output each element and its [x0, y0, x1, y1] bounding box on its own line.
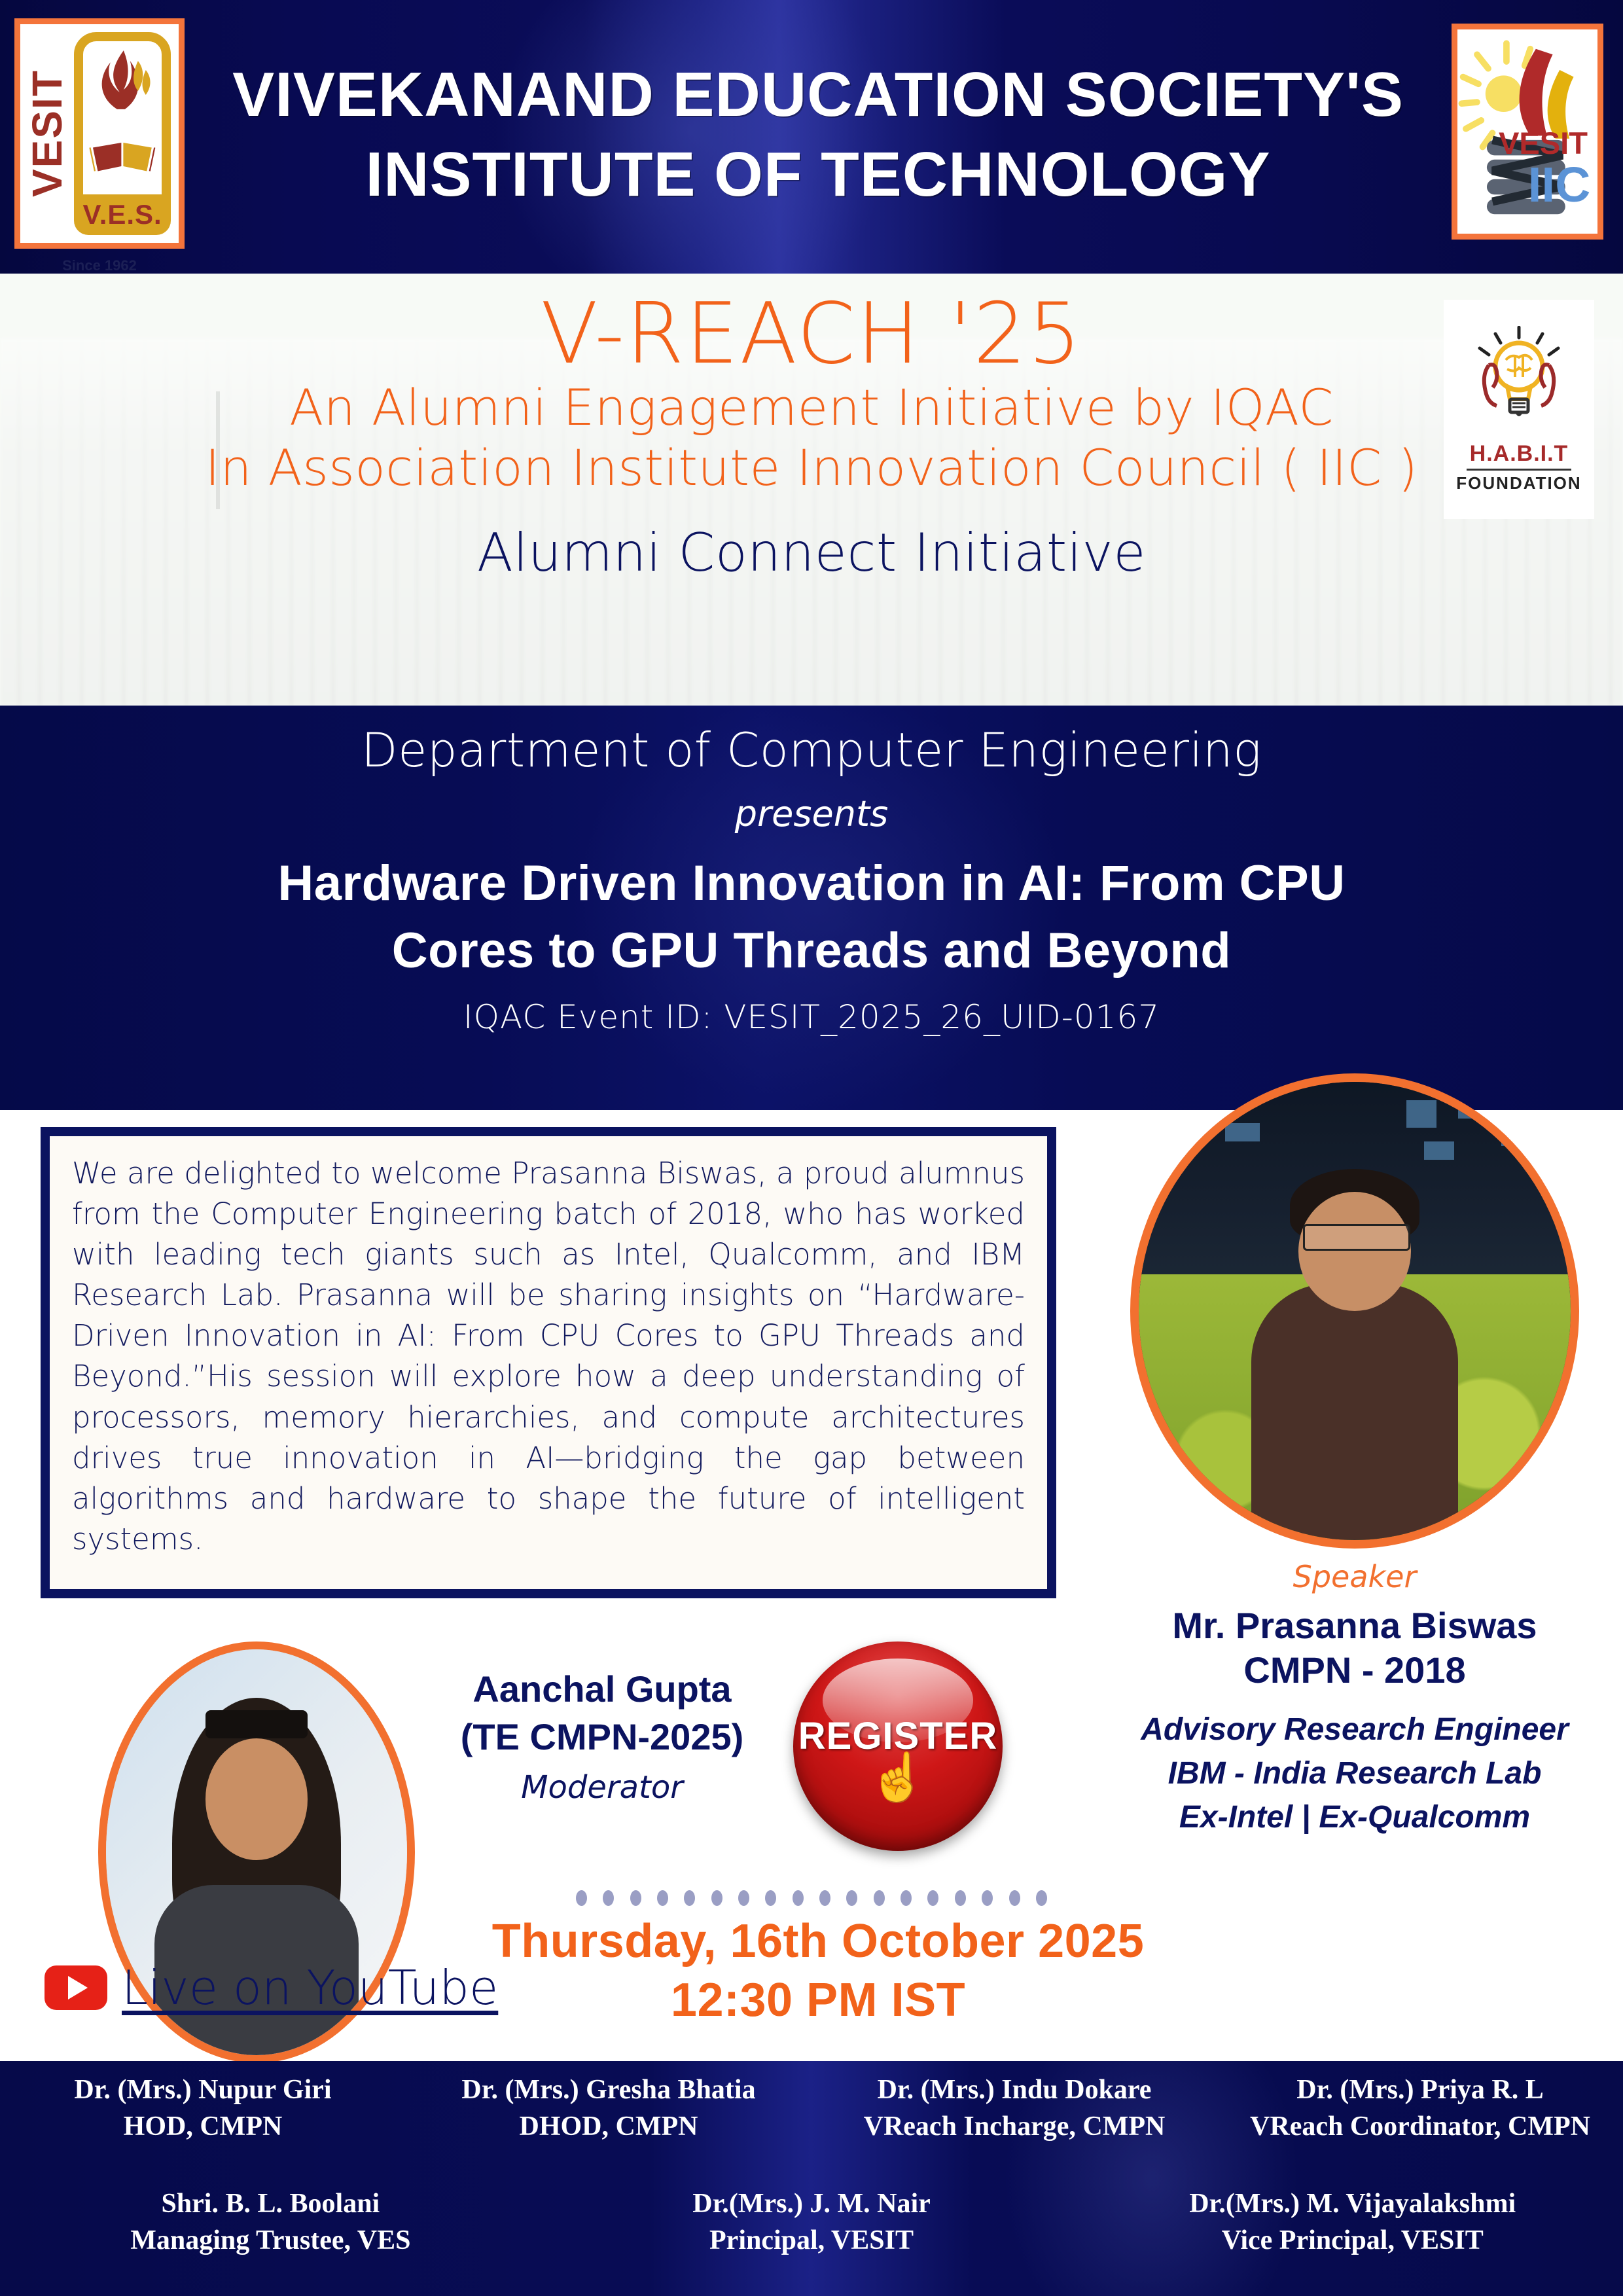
speaker-role-line-2: IBM - India Research Lab	[1168, 1753, 1542, 1794]
iic-logo-graphic: VESIT IIC	[1457, 29, 1597, 234]
talk-title-line-1: Hardware Driven Innovation in AI: From C…	[277, 852, 1345, 916]
footer-person: Dr. (Mrs.) Gresha Bhatia DHOD, CMPN	[406, 2072, 811, 2145]
vesit-logo-vertical-text: VESIT	[20, 24, 74, 243]
speaker-description-box: We are delighted to welcome Prasanna Bis…	[41, 1127, 1056, 1598]
dotted-divider	[576, 1888, 1047, 1908]
talk-title-line-2: Cores to GPU Threads and Beyond	[392, 919, 1231, 984]
footer-person: Dr.(Mrs.) M. Vijayalakshmi Vice Principa…	[1082, 2185, 1623, 2259]
header-band: VESIT V.E.S. Since 1962	[0, 0, 1623, 274]
footer-row-2: Shri. B. L. Boolani Managing Trustee, VE…	[0, 2185, 1623, 2259]
footer-person-role: VReach Coordinator, CMPN	[1217, 2108, 1623, 2145]
footer-person-name: Dr. (Mrs.) Priya R. L	[1217, 2072, 1623, 2108]
footer-person-name: Dr.(Mrs.) M. Vijayalakshmi	[1095, 2185, 1610, 2222]
svg-text:IIC: IIC	[1528, 157, 1591, 212]
habit-logo-subtitle: FOUNDATION	[1456, 473, 1581, 493]
footer-person-role: Vice Principal, VESIT	[1095, 2222, 1610, 2259]
event-poster: VESIT V.E.S. Since 1962	[0, 0, 1623, 2296]
open-book-icon	[83, 125, 162, 184]
presents-label: presents	[735, 793, 889, 834]
youtube-play-icon	[45, 1965, 107, 2010]
speaker-role-line-1: Advisory Research Engineer	[1141, 1709, 1569, 1750]
moderator-role: Moderator	[419, 1769, 785, 1806]
footer-person: Dr.(Mrs.) J. M. Nair Principal, VESIT	[541, 2185, 1082, 2259]
footer-person-role: VReach Incharge, CMPN	[811, 2108, 1217, 2145]
speaker-description-text: We are delighted to welcome Prasanna Bis…	[72, 1153, 1025, 1560]
footer-person: Dr. (Mrs.) Priya R. L VReach Coordinator…	[1217, 2072, 1623, 2145]
institute-title-line-1: VIVEKANAND EDUCATION SOCIETY'S	[232, 61, 1404, 129]
footer-person: Dr. (Mrs.) Nupur Giri HOD, CMPN	[0, 2072, 406, 2145]
vesit-logo-plate: V.E.S.	[74, 32, 171, 235]
institute-title: VIVEKANAND EDUCATION SOCIETY'S INSTITUTE…	[196, 24, 1440, 246]
speaker-role-line-3: Ex-Intel | Ex-Qualcomm	[1179, 1797, 1530, 1838]
speaker-name: Mr. Prasanna Biswas	[1172, 1604, 1537, 1648]
event-details-band: Department of Computer Engineering prese…	[0, 706, 1623, 1110]
footer-person-name: Dr. (Mrs.) Nupur Giri	[0, 2072, 406, 2108]
institute-title-line-2: INSTITUTE OF TECHNOLOGY	[366, 141, 1271, 209]
event-tagline: Alumni Connect Initiative	[477, 522, 1146, 583]
footer-person-name: Shri. B. L. Boolani	[13, 2185, 528, 2222]
footer-band: Dr. (Mrs.) Nupur Giri HOD, CMPN Dr. (Mrs…	[0, 2061, 1623, 2296]
flame-icon	[83, 46, 162, 125]
footer-person-role: DHOD, CMPN	[406, 2108, 811, 2145]
vesit-logo-ves-text: V.E.S.	[74, 194, 171, 235]
hero-section: V-REACH '25 An Alumni Engagement Initiat…	[0, 274, 1623, 706]
speaker-photo	[1130, 1073, 1579, 1549]
event-date: Thursday, 16th October 2025	[458, 1914, 1178, 1968]
event-subtitle-1: An Alumni Engagement Initiative by IQAC	[289, 378, 1334, 439]
vesit-logo: VESIT V.E.S. Since 1962	[14, 18, 185, 249]
footer-person-role: Principal, VESIT	[554, 2222, 1069, 2259]
footer-person-role: HOD, CMPN	[0, 2108, 406, 2145]
habit-foundation-logo: H.A.B.I.T FOUNDATION	[1444, 300, 1594, 519]
footer-person-name: Dr. (Mrs.) Indu Dokare	[811, 2072, 1217, 2108]
habit-logo-title: H.A.B.I.T	[1470, 441, 1569, 467]
live-on-youtube-link[interactable]: Live on YouTube	[45, 1960, 498, 2015]
event-brand-title: V-REACH '25	[541, 292, 1082, 378]
department-name: Department of Computer Engineering	[361, 723, 1262, 778]
vesit-iic-logo: VESIT IIC	[1452, 24, 1603, 240]
footer-person: Shri. B. L. Boolani Managing Trustee, VE…	[0, 2185, 541, 2259]
register-button[interactable]: REGISTER ☝	[793, 1641, 1003, 1851]
habit-logo-divider	[1467, 469, 1571, 471]
speaker-batch: CMPN - 2018	[1243, 1648, 1465, 1693]
iqac-event-id: IQAC Event ID: VESIT_2025_26_UID-0167	[463, 998, 1160, 1036]
live-on-youtube-label: Live on YouTube	[122, 1960, 498, 2015]
pointing-hand-icon: ☝	[868, 1754, 927, 1801]
event-time: 12:30 PM IST	[458, 1973, 1178, 2027]
event-subtitle-2: In Association Institute Innovation Coun…	[205, 438, 1418, 499]
footer-person-name: Dr. (Mrs.) Gresha Bhatia	[406, 2072, 811, 2108]
footer-row-1: Dr. (Mrs.) Nupur Giri HOD, CMPN Dr. (Mrs…	[0, 2072, 1623, 2145]
footer-person-name: Dr.(Mrs.) J. M. Nair	[554, 2185, 1069, 2222]
footer-person: Dr. (Mrs.) Indu Dokare VReach Incharge, …	[811, 2072, 1217, 2145]
brain-bulb-in-hands-icon	[1460, 326, 1578, 437]
footer-person-role: Managing Trustee, VES	[13, 2222, 528, 2259]
speaker-label: Speaker	[1293, 1559, 1417, 1594]
moderator-batch: (TE CMPN-2025)	[419, 1713, 785, 1761]
moderator-block: Aanchal Gupta (TE CMPN-2025) Moderator	[419, 1666, 785, 1806]
vesit-logo-since-text: Since 1962	[20, 257, 179, 274]
sunglasses-icon	[205, 1710, 308, 1738]
speaker-block: Speaker Mr. Prasanna Biswas CMPN - 2018 …	[1086, 1073, 1623, 1839]
moderator-name: Aanchal Gupta	[419, 1666, 785, 1713]
hero-text-block: V-REACH '25 An Alumni Engagement Initiat…	[0, 274, 1623, 706]
svg-text:VESIT: VESIT	[1499, 126, 1588, 160]
